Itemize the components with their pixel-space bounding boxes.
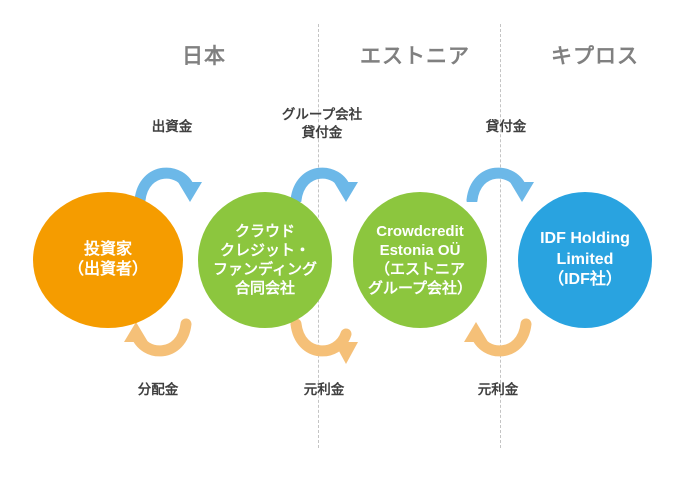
flow-label-group-loan: グループ会社 貸付金 xyxy=(262,106,382,142)
node-idf-holding[interactable]: IDF Holding Limited （IDF社） xyxy=(518,192,652,328)
node-crowdcredit-funding[interactable]: クラウド クレジット・ ファンディング 合同会社 xyxy=(198,192,332,328)
node-crowdcredit-estonia[interactable]: Crowdcredit Estonia OÜ （エストニア グループ会社） xyxy=(353,192,487,328)
region-label-cyprus: キプロス xyxy=(520,40,670,70)
arrow-funding-to-estonia xyxy=(290,160,370,202)
arrow-estonia-to-funding xyxy=(284,318,364,364)
arrow-idf-to-estonia xyxy=(458,318,538,364)
flow-label-distribution: 分配金 xyxy=(118,381,198,399)
arrow-investor-to-funding xyxy=(134,160,214,202)
node-crowdcredit-funding-label: クラウド クレジット・ ファンディング 合同会社 xyxy=(198,222,332,299)
node-idf-holding-label: IDF Holding Limited （IDF社） xyxy=(518,229,652,290)
diagram-canvas: 日本 エストニア キプロス 出資金 グループ会社 貸付金 貸付金 分配金 xyxy=(0,0,680,480)
node-investor[interactable]: 投資家 （出資者） xyxy=(33,192,183,328)
flow-label-loan: 貸付金 xyxy=(466,118,546,136)
flow-label-principal-interest-1: 元利金 xyxy=(284,381,364,399)
flow-label-loan-text: 貸付金 xyxy=(486,119,527,134)
flow-label-principal-interest-2: 元利金 xyxy=(458,381,538,399)
region-label-japan: 日本 xyxy=(124,40,284,70)
node-investor-label: 投資家 （出資者） xyxy=(33,240,183,281)
flow-label-investment: 出資金 xyxy=(132,118,212,136)
flow-label-investment-text: 出資金 xyxy=(152,119,193,134)
flow-label-group-loan-text: グループ会社 貸付金 xyxy=(282,107,362,140)
flow-label-principal-interest-2-text: 元利金 xyxy=(478,382,519,397)
flow-label-distribution-text: 分配金 xyxy=(138,382,179,397)
region-label-estonia: エストニア xyxy=(330,40,500,70)
arrow-estonia-to-idf xyxy=(466,160,546,202)
flow-label-principal-interest-1-text: 元利金 xyxy=(304,382,345,397)
node-crowdcredit-estonia-label: Crowdcredit Estonia OÜ （エストニア グループ会社） xyxy=(353,222,487,299)
